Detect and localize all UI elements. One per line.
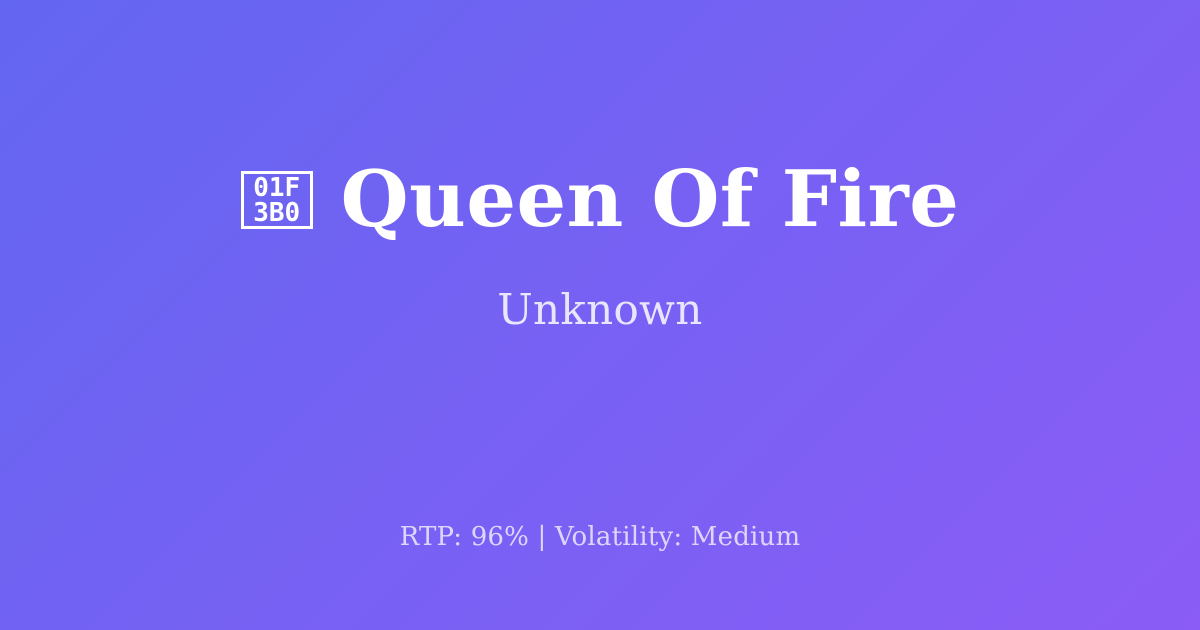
meta-strip: RTP: 96% | Volatility: Medium [0, 522, 1200, 553]
codepoint-hex-bottom: 3B0 [253, 201, 300, 226]
game-provider: Unknown [497, 285, 702, 335]
game-title: Queen Of Fire [341, 159, 960, 241]
game-og-card: 01F 3B0 Queen Of Fire Unknown RTP: 96% |… [0, 0, 1200, 630]
title-row: 01F 3B0 Queen Of Fire [241, 159, 960, 241]
game-meta-summary: RTP: 96% | Volatility: Medium [400, 522, 801, 553]
slot-machine-icon: 01F 3B0 [241, 171, 313, 229]
hero-block: 01F 3B0 Queen Of Fire Unknown [0, 0, 1200, 495]
